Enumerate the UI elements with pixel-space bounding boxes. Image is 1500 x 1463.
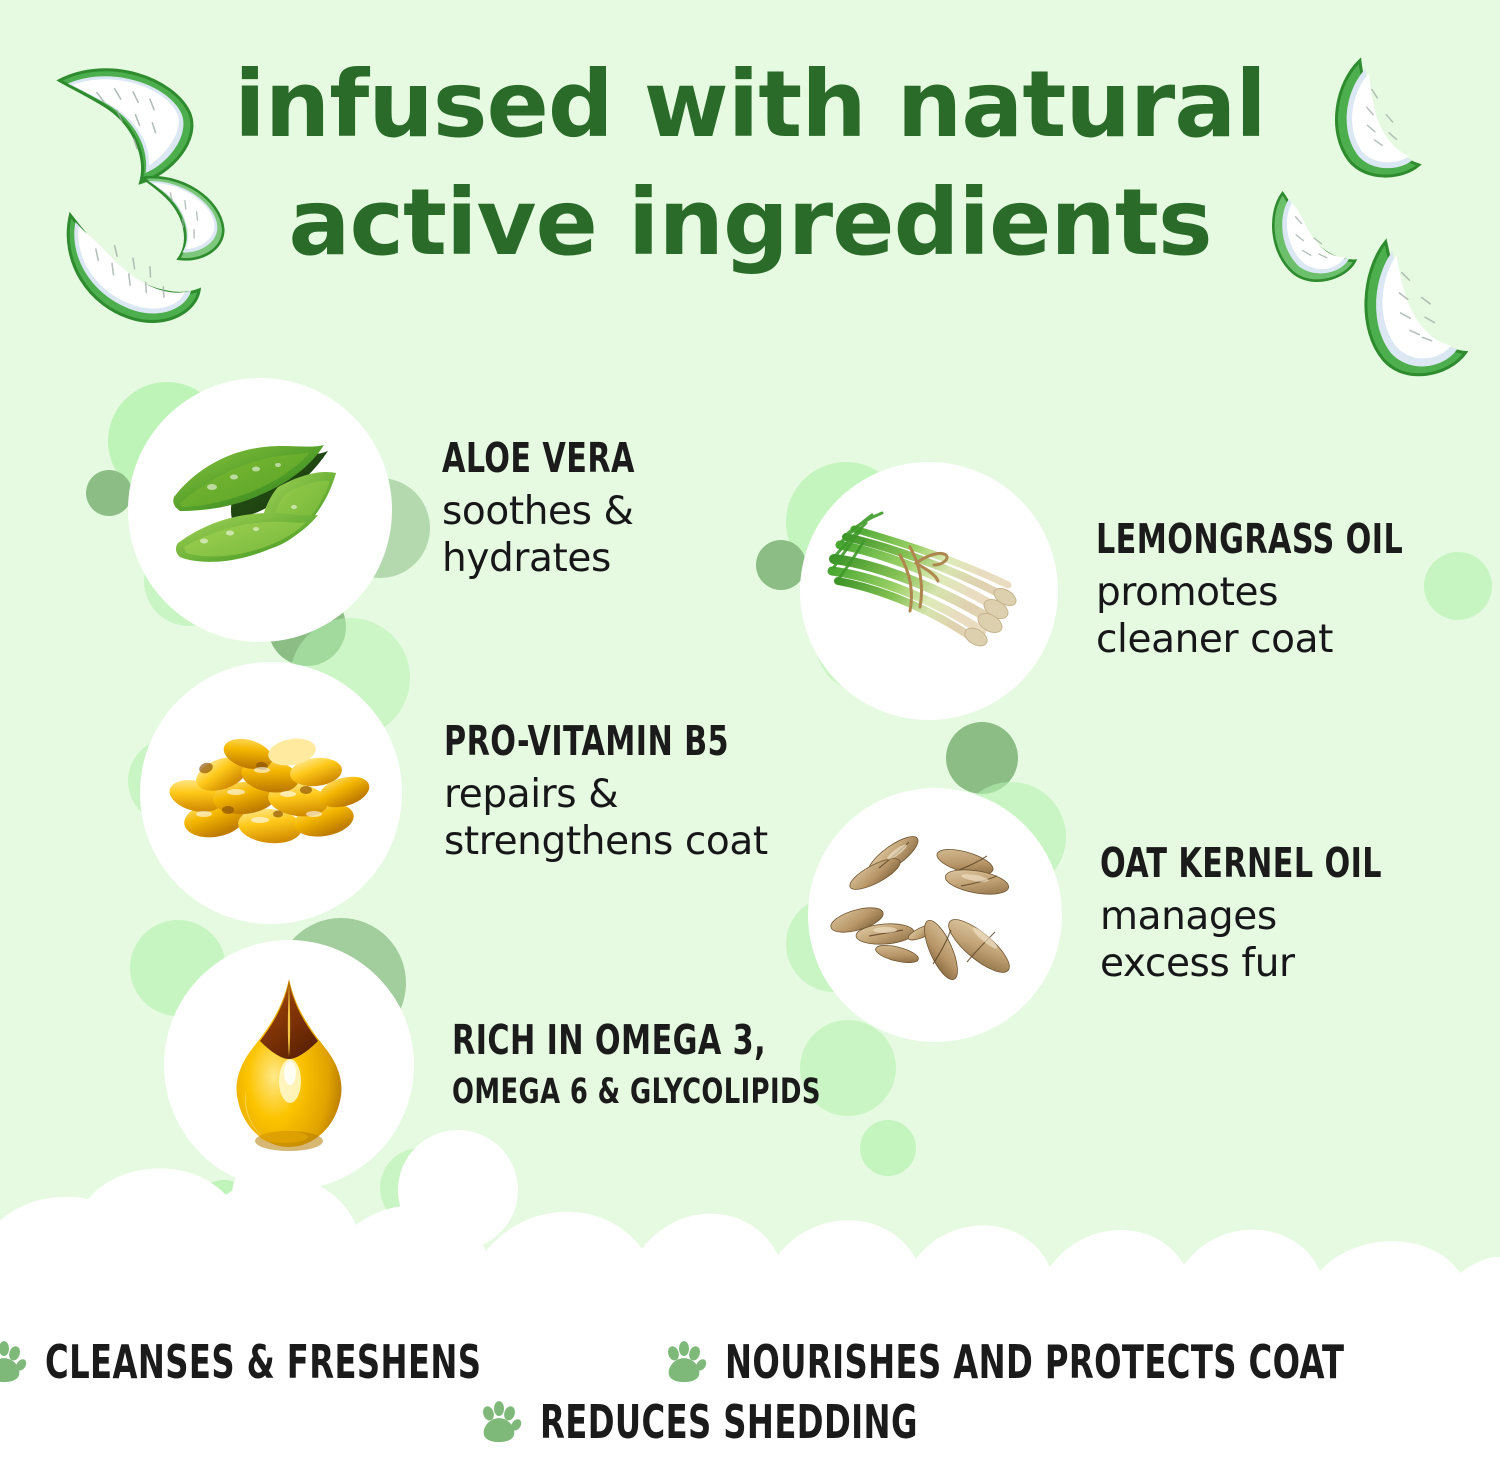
ingredient-aloe-vera: ALOE VERA soothes & hydrates	[128, 378, 677, 642]
ingredient-pro-vitamin-b5: PRO-VITAMIN B5 repairs & strengthens coa…	[140, 662, 792, 924]
ingredient-description: repairs & strengthens coat	[444, 772, 792, 864]
oat-kernel-text: OAT KERNEL OIL manages excess fur	[1100, 843, 1444, 986]
paw-print-icon	[476, 1399, 522, 1445]
desc-line: cleaner coat	[1096, 617, 1471, 663]
lemongrass-text: LEMONGRASS OIL promotes cleaner coat	[1096, 519, 1471, 662]
aloe-vera-text: ALOE VERA soothes & hydrates	[442, 438, 677, 581]
vitamin-b5-capsules-photo	[140, 662, 402, 924]
benefits-section: CLEANSES & FRESHENS NOURISHES AND PROTEC…	[0, 1339, 1500, 1445]
benefit-label: NOURISHES AND PROTECTS COAT	[725, 1339, 1344, 1385]
title-line-2: active ingredients	[0, 164, 1500, 282]
page-title: infused with natural active ingredients	[0, 46, 1500, 282]
omega-3-text: RICH IN OMEGA 3, OMEGA 6 & GLYCOLIPIDS	[452, 1020, 902, 1110]
ingredient-name: PRO-VITAMIN B5	[444, 721, 729, 762]
benefit-label: CLEANSES & FRESHENS	[45, 1339, 481, 1385]
ingredients-infographic: infused with natural active ingredients	[0, 0, 1500, 1463]
ingredient-description: manages excess fur	[1100, 894, 1444, 986]
benefit-nourishes-protects-coat: NOURISHES AND PROTECTS COAT	[661, 1339, 1500, 1385]
desc-line: repairs &	[444, 772, 792, 818]
desc-line: soothes &	[442, 489, 677, 535]
title-line-1: infused with natural	[0, 46, 1500, 164]
ingredient-description: soothes & hydrates	[442, 489, 677, 581]
benefit-reduces-shedding: REDUCES SHEDDING	[476, 1399, 1024, 1445]
ingredient-name: RICH IN OMEGA 3,	[452, 1020, 821, 1061]
lemongrass-photo	[800, 462, 1058, 720]
background-bubble	[756, 540, 806, 590]
benefits-row-1: CLEANSES & FRESHENS NOURISHES AND PROTEC…	[0, 1339, 1500, 1385]
desc-line: hydrates	[442, 536, 677, 582]
ingredient-name: LEMONGRASS OIL	[1096, 519, 1403, 560]
desc-line: promotes	[1096, 570, 1471, 616]
ingredient-oat-kernel-oil: OAT KERNEL OIL manages excess fur	[808, 788, 1444, 1042]
ingredient-lemongrass-oil: LEMONGRASS OIL promotes cleaner coat	[800, 462, 1471, 720]
desc-line: excess fur	[1100, 941, 1444, 987]
paw-print-icon	[0, 1339, 27, 1385]
aloe-leaves-illustration	[160, 425, 360, 595]
pro-vitamin-b5-text: PRO-VITAMIN B5 repairs & strengthens coa…	[444, 721, 792, 864]
lemongrass-bundle-illustration	[824, 511, 1034, 671]
ingredient-name: ALOE VERA	[442, 438, 635, 479]
desc-line: manages	[1100, 894, 1444, 940]
benefit-label: REDUCES SHEDDING	[540, 1399, 918, 1445]
background-bubble	[86, 470, 132, 516]
desc-line: strengthens coat	[444, 819, 792, 865]
aloe-vera-photo	[128, 378, 392, 642]
ingredient-name: OAT KERNEL OIL	[1100, 843, 1382, 884]
paw-print-icon	[661, 1339, 707, 1385]
benefits-row-2: REDUCES SHEDDING	[476, 1399, 1024, 1445]
softgel-capsules-illustration	[166, 728, 376, 858]
benefit-cleanses-freshens: CLEANSES & FRESHENS	[0, 1339, 605, 1385]
ingredient-description: promotes cleaner coat	[1096, 570, 1471, 662]
